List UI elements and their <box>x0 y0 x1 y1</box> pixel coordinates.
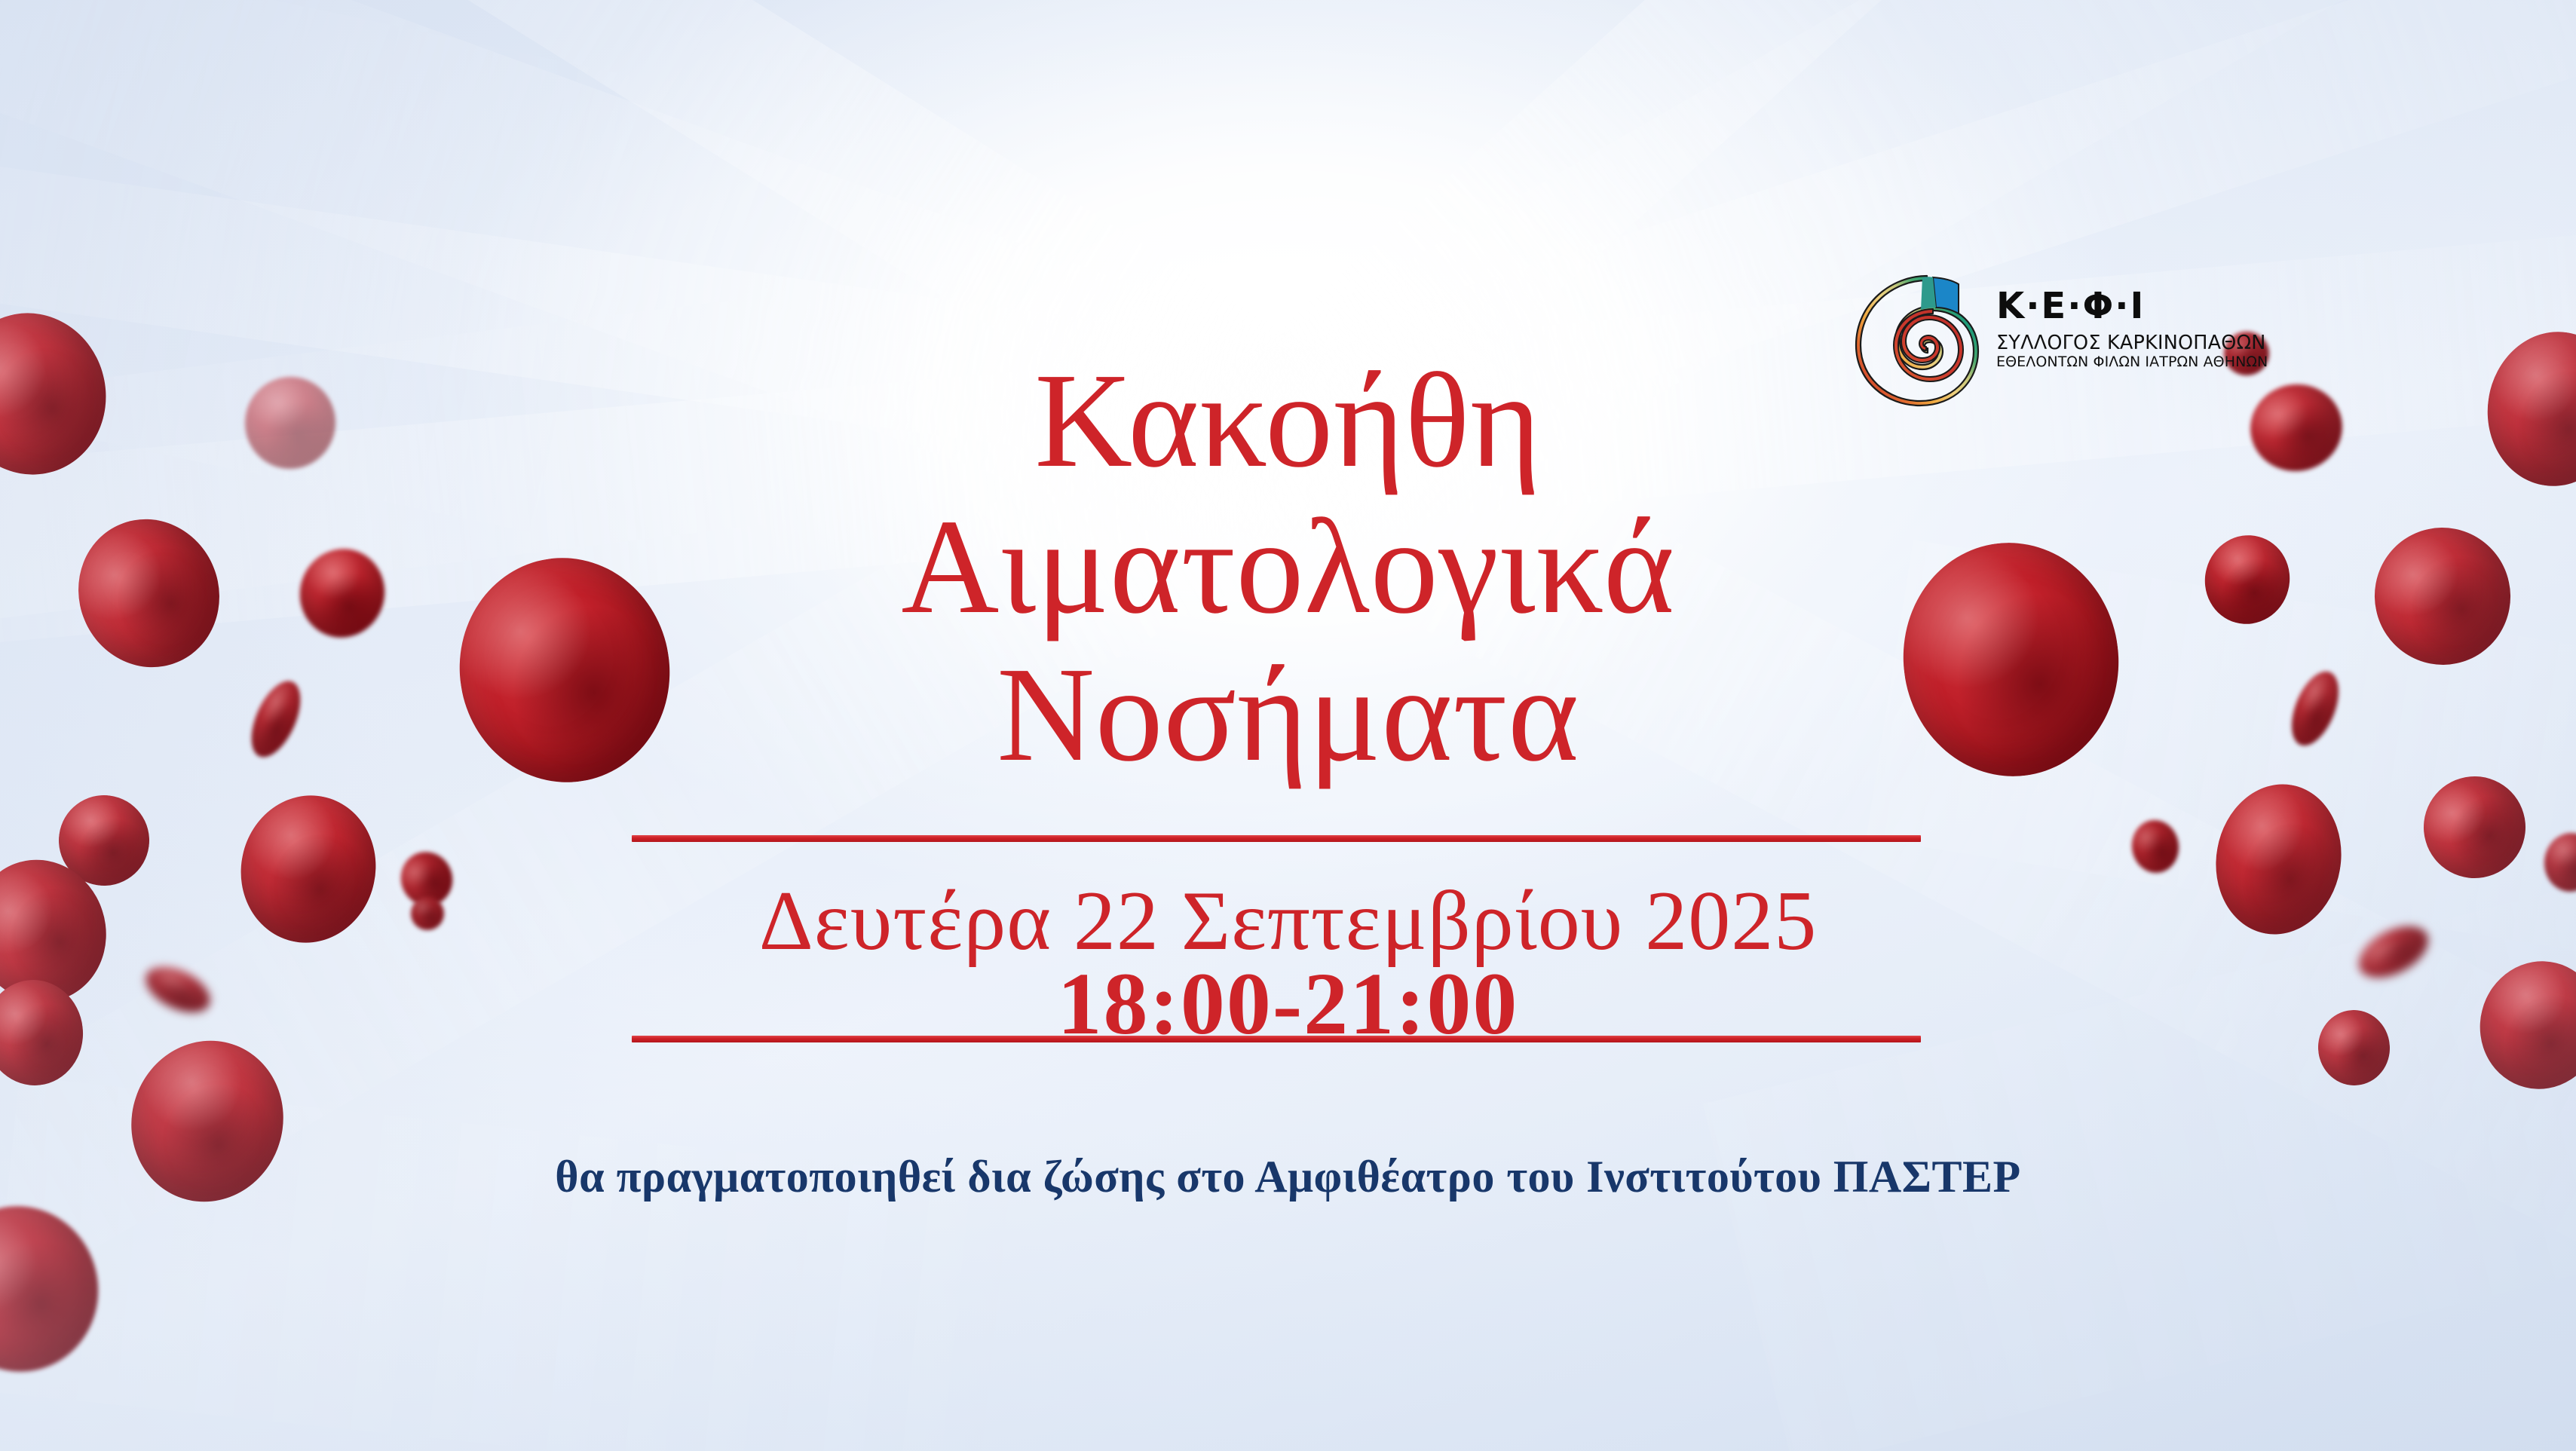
poster-content: Κακοήθη Αιματολογικά Νοσήματα Δευτέρα 22… <box>0 0 2576 1451</box>
page-title-line-2: Αιματολογικά <box>0 499 2576 635</box>
divider-rule-bottom <box>632 1036 1921 1042</box>
event-venue: θα πραγματοποιηθεί δια ζώσης στο Αμφιθέα… <box>0 1151 2576 1203</box>
logo-acronym: Κ·Ε·Φ·Ι <box>1996 288 2185 324</box>
logo-subtitle-line-2: ΕΘΕΛΟΝΤΩΝ ΦΙΛΩΝ ΙΑΤΡΩΝ ΑΘΗΝΩΝ <box>1996 354 2185 369</box>
page-title-line-1: Κακοήθη <box>0 353 2576 488</box>
poster-canvas: Κακοήθη Αιματολογικά Νοσήματα Δευτέρα 22… <box>0 0 2576 1451</box>
kefi-logo-text: Κ·Ε·Φ·Ι ΣΥΛΛΟΓΟΣ ΚΑΡΚΙΝΟΠΑΘΩΝ ΕΘΕΛΟΝΤΩΝ … <box>1996 288 2185 369</box>
kefi-logo[interactable]: Κ·Ε·Φ·Ι ΣΥΛΛΟΓΟΣ ΚΑΡΚΙΝΟΠΑΘΩΝ ΕΘΕΛΟΝΤΩΝ … <box>1849 270 2173 413</box>
nautilus-spiral-icon <box>1849 270 1983 409</box>
page-title-line-3: Νοσήματα <box>0 647 2576 782</box>
logo-subtitle-line-1: ΣΥΛΛΟΓΟΣ ΚΑΡΚΙΝΟΠΑΘΩΝ <box>1996 333 2185 354</box>
divider-rule-top <box>632 835 1921 842</box>
